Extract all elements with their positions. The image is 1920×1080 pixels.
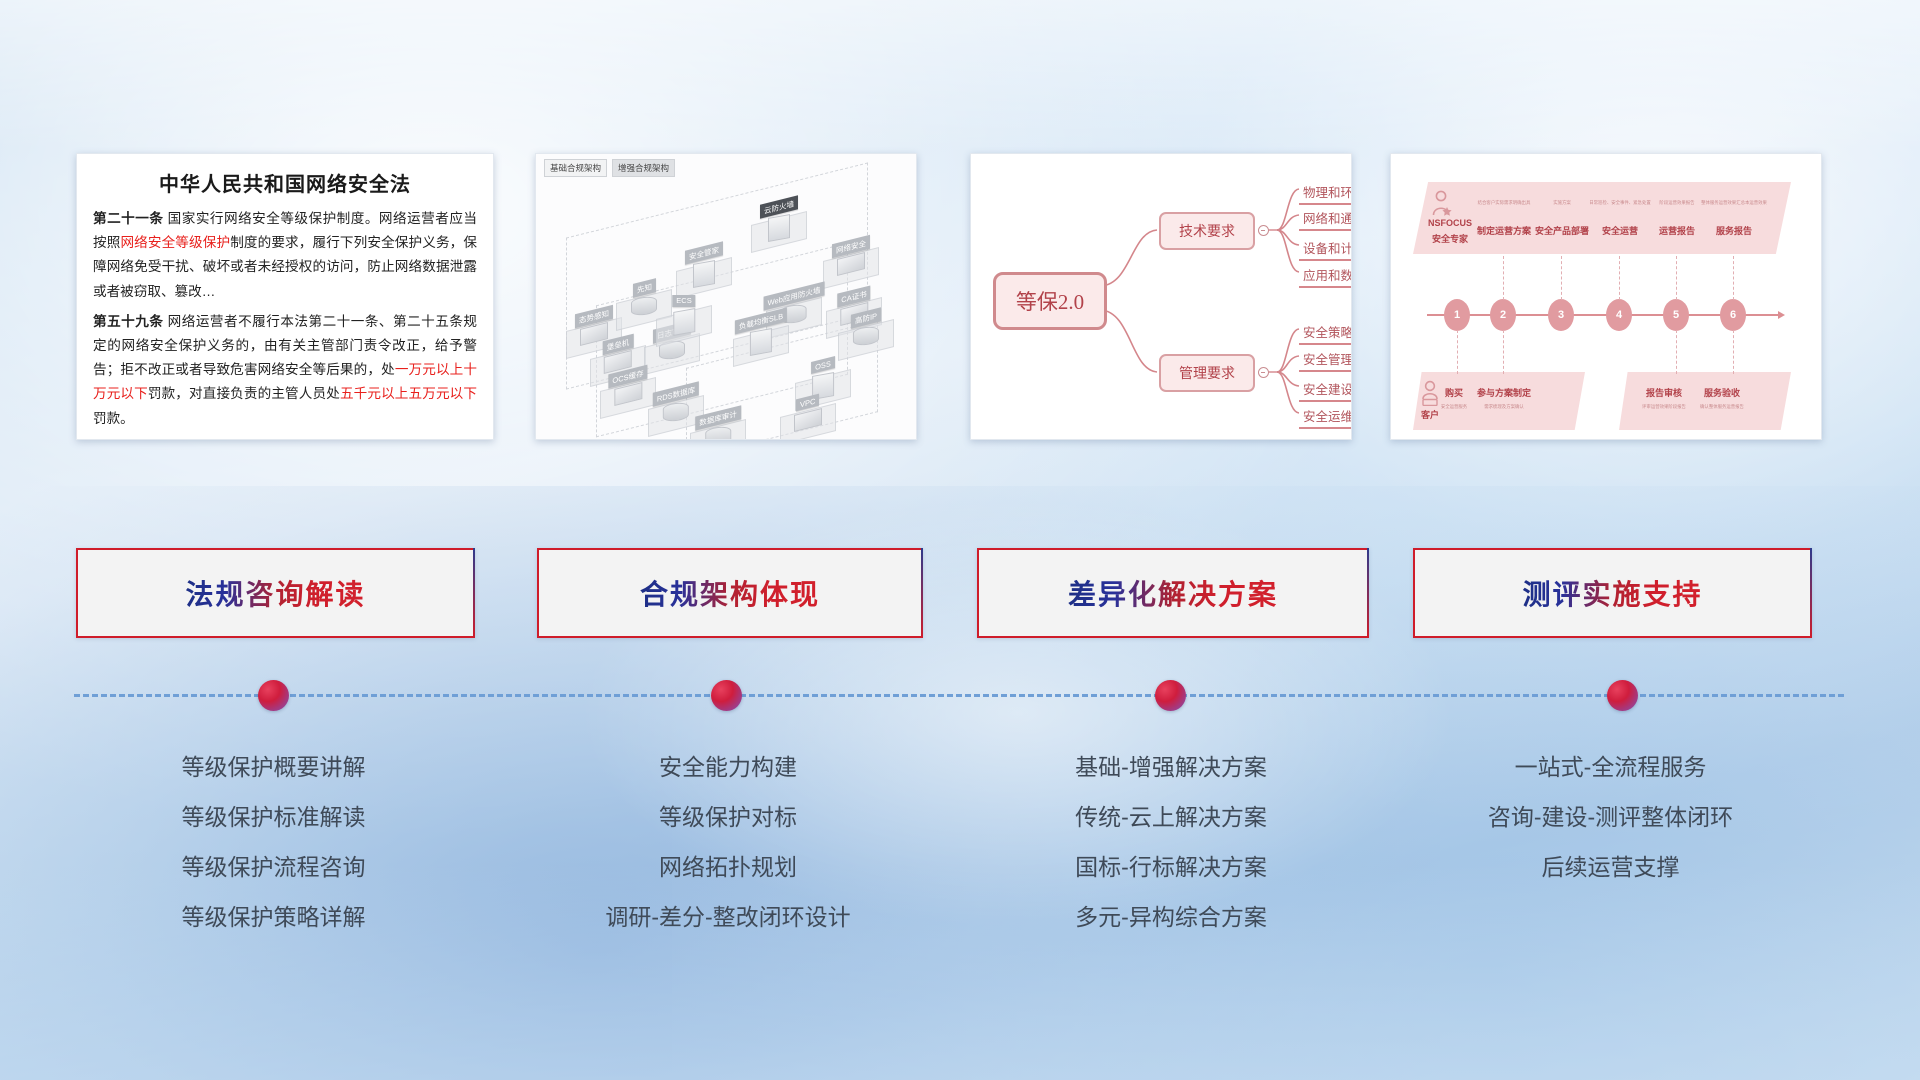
pillar-section: 法规咨询解读 合规架构体现 差异化解决方案 测评实施支持 等级保护概要讲解等级保… xyxy=(0,0,1920,1080)
pillar-item: 安全能力构建 xyxy=(537,742,919,792)
pillar-item: 咨询-建设-测评整体闭环 xyxy=(1413,792,1808,842)
pillar-item-list-4: 一站式-全流程服务咨询-建设-测评整体闭环后续运营支撑 xyxy=(1413,742,1808,892)
pillar-item: 等级保护策略详解 xyxy=(76,892,471,942)
pillar-item: 调研-差分-整改闭环设计 xyxy=(537,892,919,942)
pillar-item: 国标-行标解决方案 xyxy=(977,842,1365,892)
pillar-item: 多元-异构综合方案 xyxy=(977,892,1365,942)
pillar-item: 等级保护对标 xyxy=(537,792,919,842)
pillar-item-list-3: 基础-增强解决方案传统-云上解决方案国标-行标解决方案多元-异构综合方案 xyxy=(977,742,1365,942)
timeline-dot-4[interactable] xyxy=(1607,680,1638,711)
timeline-dot-3[interactable] xyxy=(1155,680,1186,711)
pillar-title-2: 合规架构体现 xyxy=(640,573,820,613)
pillar-item: 一站式-全流程服务 xyxy=(1413,742,1808,792)
pillar-title-1: 法规咨询解读 xyxy=(185,573,365,613)
pillar-item-list-1: 等级保护概要讲解等级保护标准解读等级保护流程咨询等级保护策略详解 xyxy=(76,742,471,942)
pillar-item: 后续运营支撑 xyxy=(1413,842,1808,892)
dashed-timeline xyxy=(74,694,1844,697)
pillar-title-box-2[interactable]: 合规架构体现 xyxy=(537,548,923,638)
pillar-item: 等级保护流程咨询 xyxy=(76,842,471,892)
pillar-title-box-4[interactable]: 测评实施支持 xyxy=(1413,548,1812,638)
pillar-item: 基础-增强解决方案 xyxy=(977,742,1365,792)
pillar-item: 网络拓扑规划 xyxy=(537,842,919,892)
timeline-dot-2[interactable] xyxy=(711,680,742,711)
pillar-item: 等级保护概要讲解 xyxy=(76,742,471,792)
timeline-dot-1[interactable] xyxy=(258,680,289,711)
pillar-title-box-3[interactable]: 差异化解决方案 xyxy=(977,548,1369,638)
pillar-item: 等级保护标准解读 xyxy=(76,792,471,842)
pillar-title-4: 测评实施支持 xyxy=(1522,573,1702,613)
pillar-title-3: 差异化解决方案 xyxy=(1068,573,1278,613)
pillar-item: 传统-云上解决方案 xyxy=(977,792,1365,842)
pillar-title-box-1[interactable]: 法规咨询解读 xyxy=(76,548,475,638)
pillar-item-list-2: 安全能力构建等级保护对标网络拓扑规划调研-差分-整改闭环设计 xyxy=(537,742,919,942)
